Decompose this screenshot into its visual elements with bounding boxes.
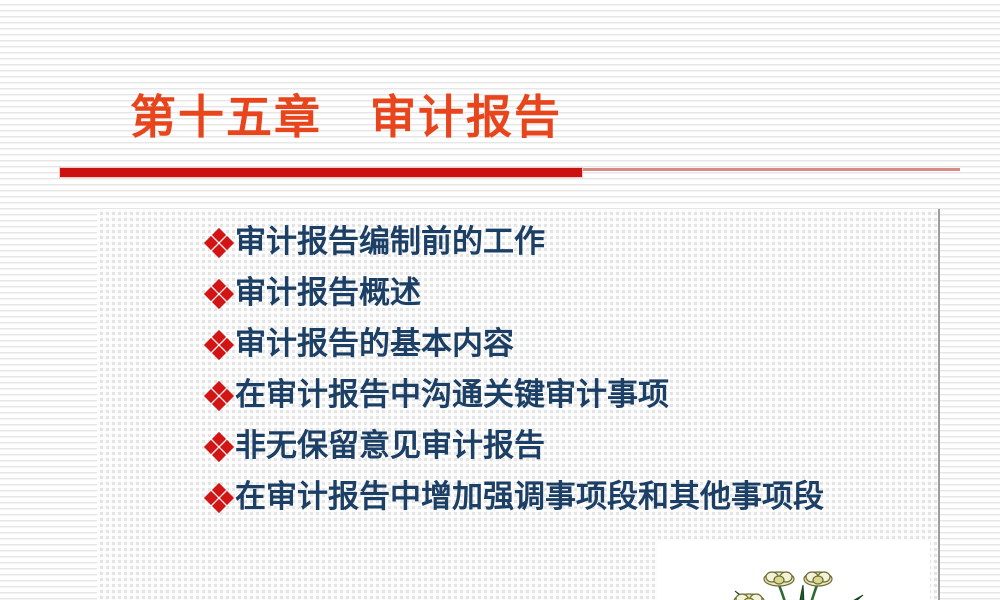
list-item: 非无保留意见审计报告 bbox=[97, 421, 940, 472]
diamond-bullet-icon bbox=[205, 433, 233, 459]
narcissus-plant-icon bbox=[657, 541, 930, 600]
slide-root: 第十五章 审计报告 审计报告编制前的工作 审计报告概述 审计报告的基本内容 bbox=[0, 0, 1000, 600]
title-block: 第十五章 审计报告 bbox=[0, 86, 1000, 166]
diamond-bullet-icon bbox=[205, 331, 233, 357]
clipart-image bbox=[657, 541, 930, 600]
diamond-bullet-icon bbox=[205, 229, 233, 255]
list-item-label: 在审计报告中沟通关键审计事项 bbox=[235, 377, 669, 413]
list-item-label: 审计报告的基本内容 bbox=[235, 326, 514, 362]
diamond-bullet-icon bbox=[205, 382, 233, 408]
list-item-label: 在审计报告中增加强调事项段和其他事项段 bbox=[235, 479, 824, 515]
diamond-bullet-icon bbox=[205, 280, 233, 306]
list-item-label: 非无保留意见审计报告 bbox=[235, 428, 545, 464]
list-item: 审计报告概述 bbox=[97, 268, 940, 319]
content-panel: 审计报告编制前的工作 审计报告概述 审计报告的基本内容 在审计报告中沟通关键审计… bbox=[97, 209, 940, 600]
list-item: 在审计报告中沟通关键审计事项 bbox=[97, 370, 940, 421]
list-item: 审计报告编制前的工作 bbox=[97, 217, 940, 268]
bullet-list: 审计报告编制前的工作 审计报告概述 审计报告的基本内容 在审计报告中沟通关键审计… bbox=[97, 217, 940, 523]
list-item: 在审计报告中增加强调事项段和其他事项段 bbox=[97, 472, 940, 523]
list-item-label: 审计报告编制前的工作 bbox=[235, 224, 545, 260]
title-underline-thick bbox=[59, 167, 583, 178]
diamond-bullet-icon bbox=[205, 484, 233, 510]
page-title: 第十五章 审计报告 bbox=[130, 86, 562, 148]
list-item: 审计报告的基本内容 bbox=[97, 319, 940, 370]
list-item-label: 审计报告概述 bbox=[235, 275, 421, 311]
